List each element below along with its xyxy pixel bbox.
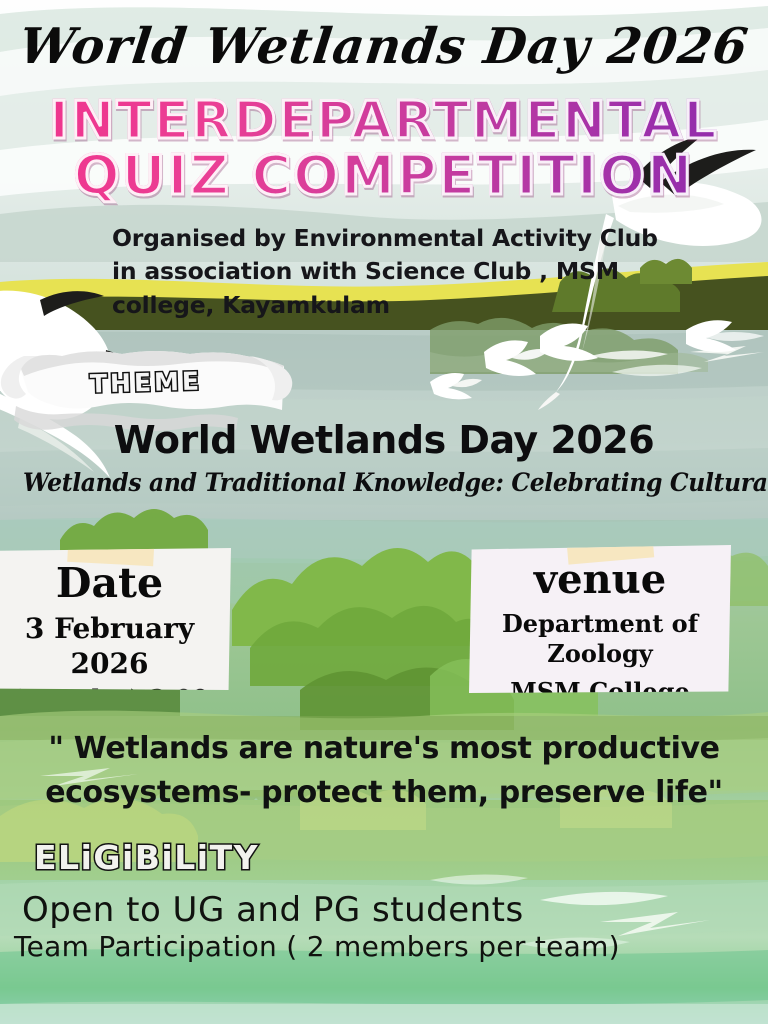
date-card-value: 3 February 2026 (0, 611, 231, 681)
theme-tagline: Wetlands and Traditional Knowledge: Cele… (23, 468, 745, 497)
venue-card-college: MSM College (469, 677, 731, 707)
venue-card-department: Department of Zoology (469, 609, 731, 669)
theme-banner-label: THEME (22, 365, 271, 401)
organiser-line1: Organised by Environmental Activity Club (112, 222, 658, 255)
poster-root: World Wetlands Day 2026 INTERDEPARTMENTA… (0, 0, 768, 1024)
date-card-title: Date (0, 562, 231, 605)
eligibility-heading: ELiGiBiLiTY (34, 838, 259, 877)
eligibility-line2: Team Participation ( 2 members per team) (14, 930, 620, 963)
venue-card: venue Department of Zoology MSM College (469, 545, 731, 693)
date-card: Date 3 February 2026 (Tuesday) 2:00 PM (0, 548, 231, 690)
quote-line2: ecosystems- protect them, preserve life" (0, 771, 768, 815)
event-title-line1: INTERDEPARTMENTAL (0, 96, 768, 147)
eligibility-line1: Open to UG and PG students (22, 890, 524, 930)
organiser-line3: college, Kayamkulam (112, 289, 658, 322)
theme-banner: THEME (22, 352, 270, 414)
theme-heading: World Wetlands Day 2026 (0, 418, 768, 462)
quote-line1: " Wetlands are nature's most productive (0, 727, 768, 771)
event-title-line2: QUIZ COMPETITION (0, 150, 768, 203)
venue-card-title: venue (469, 559, 731, 601)
tape-strip-icon (67, 530, 155, 566)
quote-block: " Wetlands are nature's most productive … (0, 727, 768, 814)
page-title: World Wetlands Day 2026 (0, 22, 768, 71)
organiser-block: Organised by Environmental Activity Club… (112, 222, 658, 322)
organiser-line2: in association with Science Club , MSM (112, 255, 658, 288)
